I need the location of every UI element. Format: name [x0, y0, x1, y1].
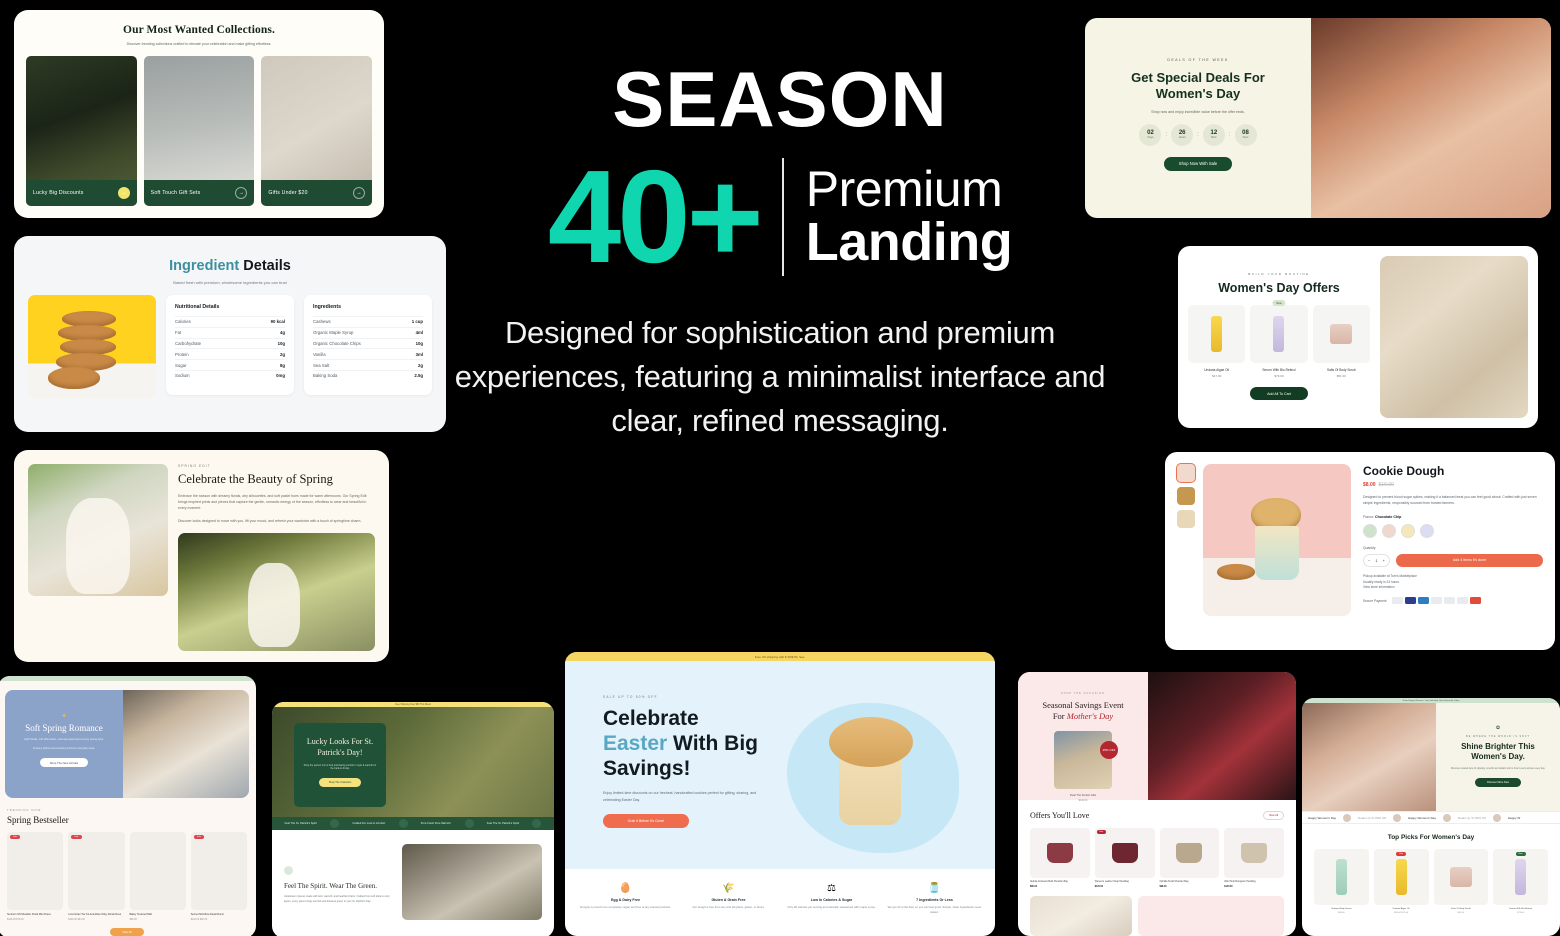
product-price: $79.00 [1493, 912, 1548, 914]
promo-banner: Free US shipping with $ 30/$ 50. See. [565, 652, 995, 661]
card-shine-brighter[interactable]: Shop Happy Women's Day Sale And Glow Nat… [1302, 698, 1560, 936]
feature-text: Only 90 calories per serving and natural… [783, 905, 880, 910]
countdown-label: Hours [1179, 136, 1186, 139]
mother-offers-section: Offers You'll Love View All Nebula Crois… [1018, 800, 1296, 888]
soft-hero-text-2: Dreamy fabrics and timeless prints for e… [15, 747, 113, 751]
countdown-label: Days [1148, 136, 1154, 139]
mother-title-emphasis: Mother's Day [1067, 711, 1113, 721]
row-value: 2g [280, 352, 285, 357]
shine-model-photo [1302, 703, 1436, 811]
shine-text-block: ✿ BE WHERE THE WORLD IS SOFT Shine Brigh… [1436, 703, 1560, 811]
flavor-value: Chocolate Chip [1375, 515, 1401, 519]
mother-eyebrow: SHOP THE OCCASION [1030, 692, 1136, 695]
product-image: Sale [1095, 828, 1155, 878]
mother-text-block: SHOP THE OCCASION Seasonal Savings Event… [1018, 672, 1148, 800]
offers-text-block: BUILD YOUR ROUTINE Women's Day Offers Un… [1188, 256, 1370, 418]
easter-text-block: SALE UP TO 50% OFF Celebrate Easter With… [603, 695, 773, 869]
product-item[interactable]: Web Pink Monogram Handbag $140.00 [1224, 828, 1284, 888]
decrement-button[interactable]: − [1368, 558, 1370, 563]
strip-item: Crafted For Luck & Comfort [352, 822, 385, 825]
ticker-item: Happy Women's Day [1408, 816, 1436, 820]
feature-title: 7 Ingredients Or Less [886, 898, 983, 902]
mother-title-line-2: For Mother's Day [1030, 711, 1136, 722]
offers-product-photo [1380, 256, 1528, 418]
discover-icon [1444, 597, 1455, 604]
collection-label: Soft Touch Gift Sets [151, 190, 201, 196]
feature-item: 🫙 7 Ingredients Or Less We got rid of th… [886, 883, 983, 915]
shine-paragraph: Discover curated care for glowing, smoot… [1448, 768, 1548, 772]
easter-features: 🥚 Egg & Dairy Free Doughy is proud to be… [565, 869, 995, 915]
countdown-unit: 12Mins [1203, 124, 1225, 146]
product-price: $120.00 [1095, 886, 1155, 888]
soft-product-grid: Sale Sunburn Off-Shoulder Floral Mini Dr… [7, 832, 247, 921]
table-row: Calories90 kcal [175, 316, 285, 327]
patrick-section-text: Celebrate in pieces made with luck, warm… [284, 895, 392, 904]
row-value: 8g [280, 363, 285, 368]
feature-item: 🥚 Egg & Dairy Free Doughy is proud to be… [577, 883, 674, 915]
row-value: 4g [280, 330, 285, 335]
price-original: $16.00 [1379, 482, 1394, 488]
offers-title: Women's Day Offers [1188, 281, 1370, 295]
product-name: Undaria Algae Oil [1374, 908, 1429, 910]
strip-item: Feel The St. Patrick's Spirit [285, 822, 317, 825]
deals-subtitle: Shop now and enjoy incredible value befo… [1101, 110, 1295, 114]
product-name: Ophidia Small Shoulder Bag [1160, 881, 1220, 884]
card-collections[interactable]: Our Most Wanted Collections. Discover tr… [14, 10, 384, 218]
payment-label: Secure Payment [1363, 599, 1387, 603]
quantity-label: Quantity [1363, 546, 1543, 550]
row-value: 0mg [276, 373, 285, 378]
increment-button[interactable]: + [1383, 558, 1385, 563]
product-image: Sale [7, 832, 63, 910]
table-row: Carbohydrate10g [175, 338, 285, 349]
ingredients-icon: 🫙 [886, 883, 983, 894]
product-name: Women's Leather Strap Handbag [1095, 881, 1155, 884]
countdown-separator: : [1165, 132, 1167, 138]
pickup-note: Pickup available at Tom's Marketplace Us… [1363, 574, 1543, 591]
mother-bottom-row [1018, 896, 1296, 936]
card-womens-day-offers[interactable]: BUILD YOUR ROUTINE Women's Day Offers Un… [1178, 246, 1538, 428]
countdown-label: Secs [1243, 136, 1249, 139]
product-price: $17.00 [1188, 374, 1245, 378]
swatch-yellow[interactable] [1401, 524, 1415, 538]
arrow-right-icon[interactable]: → [118, 187, 130, 199]
quantity-stepper[interactable]: − 1 + [1363, 554, 1390, 567]
hero-premium-label: Premium [806, 164, 1012, 215]
feature-item: ⚖ Low In Calories & Sugar Only 90 calori… [783, 883, 880, 915]
nutrition-panel: Nutritional Details Calories90 kcal Fat4… [166, 295, 294, 395]
visa-icon [1405, 597, 1416, 604]
mother-title-prefix: For [1053, 711, 1067, 721]
countdown-unit: 02Days [1139, 124, 1161, 146]
easter-title: Celebrate Easter With Big Savings! [603, 707, 773, 781]
soft-hero-photo [123, 690, 249, 798]
flavor-swatches [1363, 524, 1543, 538]
new-badge: New [1272, 300, 1285, 306]
card-cookie-dough-product[interactable]: Cookie Dough $8.00$16.00 Designed to pre… [1165, 452, 1555, 650]
product-price: $54.00 $17.00 [1374, 912, 1429, 914]
table-row: Sugar8g [175, 359, 285, 370]
product-image: Sale [1374, 849, 1429, 905]
product-name: Undaria Algae Oil [1188, 368, 1245, 372]
table-row: Fat4g [175, 327, 285, 338]
product-price: $51.00 [1313, 374, 1370, 378]
row-value: 10g [278, 341, 285, 346]
shop-now-button[interactable]: Shop Now With Sale [1164, 157, 1232, 171]
row-value: 1 cup [412, 319, 423, 324]
mother-product-grid: Nebula Croissant Multi Shoulder Bag $80.… [1030, 828, 1284, 888]
product-name: Sunburn Off-Shoulder Floral Mini Dress [7, 913, 63, 917]
table-row: Organic Maple Syrup4ml [313, 327, 423, 338]
shine-product-grid: Undaria Body Serum $48.00 Sale Undaria A… [1302, 849, 1560, 914]
patrick-hero-card: Lucky Looks For St. Patrick's Day! Shop … [294, 723, 386, 807]
collection-bar[interactable]: Gifts Under $20 → [261, 180, 372, 206]
easter-title-highlight: Easter [603, 732, 667, 755]
mother-section-title: Offers You'll Love [1030, 811, 1089, 820]
patrick-feature-strip: Feel The St. Patrick's Spirit Crafted Fo… [272, 817, 554, 830]
hero-count-plus: + [687, 156, 760, 277]
hero-season-title: SEASON [430, 60, 1130, 138]
discount-badge: 25% OFF [1100, 741, 1118, 759]
egg-free-icon: 🥚 [577, 883, 674, 894]
flower-icon: ✿ [1448, 725, 1548, 731]
spring-photo-right [178, 533, 375, 651]
collection-item[interactable]: Soft Touch Gift Sets → [144, 56, 255, 206]
soft-bestseller-section: TRENDING NOW Spring Bestseller Sale Sunb… [0, 798, 256, 936]
product-image [1313, 305, 1370, 363]
price-current: $8.00 [1363, 482, 1376, 488]
table-row: Organic Chocolate Chips10g [313, 338, 423, 349]
deals-model-photo [1311, 18, 1551, 218]
card-ingredient-details[interactable]: Ingredient Details Baked fresh with prem… [14, 236, 446, 432]
patrick-lower-section: Feel The Spirit. Wear The Green. Celebra… [272, 830, 554, 934]
countdown-separator: : [1229, 132, 1231, 138]
poster-canvas: SEASON 40+ Premium Landing Designed for … [0, 0, 1560, 936]
promo-banner-text: Free US shipping with $ 30/$ 50. See. [755, 655, 806, 659]
patrick-section-title: Feel The Spirit. Wear The Green. [284, 882, 392, 890]
spring-title: Celebrate the Beauty of Spring [178, 472, 375, 487]
row-label: Sugar [175, 363, 186, 368]
featured-product-card[interactable]: 25% OFF [1054, 731, 1112, 789]
row-value: 10g [416, 341, 423, 346]
deals-text-block: DEALS OF THE WEEK Get Special Deals For … [1085, 18, 1311, 218]
hero-count-row: 40+ Premium Landing [430, 156, 1130, 277]
card-soft-spring-romance[interactable]: ✦ Soft Spring Romance Light florals, sof… [0, 676, 256, 936]
product-item[interactable]: Salts Of Body Scrub $51.00 [1313, 305, 1370, 378]
product-name: Salts Of Body Scrub [1434, 908, 1489, 910]
product-name: Low Flutter Tier Fit-And-Flare Ditsy Flo… [68, 913, 124, 917]
row-label: Sodium [175, 373, 190, 378]
low-calorie-icon: ⚖ [783, 883, 880, 894]
countdown-label: Mins [1211, 136, 1216, 139]
spring-paragraph-1: Embrace the season with dreamy florals, … [178, 494, 375, 512]
deals-eyebrow: DEALS OF THE WEEK [1101, 58, 1295, 62]
row-label: Vanilla [313, 352, 326, 357]
product-item[interactable]: Sale Sunburn Off-Shoulder Floral Mini Dr… [7, 832, 63, 921]
product-name: Undaria Body Serum [1314, 908, 1369, 910]
sale-badge: Sale [1396, 852, 1406, 856]
shine-section-title: Top Picks For Women's Day [1302, 834, 1560, 841]
arrow-right-icon[interactable]: → [235, 187, 247, 199]
hero-description: Designed for sophistication and premium … [430, 311, 1130, 443]
clover-icon [465, 819, 474, 828]
ticker-item: Deals Up To 80% Off [1358, 816, 1386, 820]
easter-eyebrow: SALE UP TO 50% OFF [603, 695, 773, 699]
product-item[interactable]: Undaria Algae Oil $17.00 [1188, 305, 1245, 378]
collection-bar[interactable]: Lucky Big Discounts → [26, 180, 137, 206]
spring-paragraph-2: Discover looks designed to move with you… [178, 519, 375, 525]
swatch-mint[interactable] [1363, 524, 1377, 538]
product-price: $80.00 [1030, 886, 1090, 888]
soft-hero-title: Soft Spring Romance [15, 723, 113, 733]
card-easter-savings[interactable]: Free US shipping with $ 30/$ 50. See. SA… [565, 652, 995, 936]
product-price-row: $8.00$16.00 [1363, 482, 1543, 488]
table-row: Protein2g [175, 348, 285, 359]
table-row: Cashews1 cup [313, 316, 423, 327]
product-price: $128.00 $78.00 [7, 918, 63, 921]
row-label: Protein [175, 352, 189, 357]
row-value: 90 kcal [271, 319, 285, 324]
product-item[interactable]: New Serum With Bio-Retinol $79.00 [1250, 305, 1307, 378]
soft-hero: ✦ Soft Spring Romance Light florals, sof… [5, 690, 249, 798]
mother-title-line-1: Seasonal Savings Event [1030, 700, 1136, 711]
swatch-lavender[interactable] [1420, 524, 1434, 538]
store-info-link[interactable]: View store information [1363, 585, 1543, 591]
collections-subtitle: Discover trending collections crafted to… [14, 42, 384, 46]
mother-hero-photo [1148, 672, 1296, 800]
easter-cta-button[interactable]: Grab It Before It's Gone! [603, 814, 689, 828]
section-header-row: Offers You'll Love View All [1030, 811, 1284, 820]
product-item[interactable]: Sale Low Flutter Tier Fit-And-Flare Dits… [68, 832, 124, 921]
apple-pay-icon [1392, 597, 1403, 604]
featured-product-price: $410.00 [1030, 799, 1136, 802]
promo-banner-text: Free Shipping Over $50 This Week [395, 704, 431, 706]
product-price: $140.00 [1224, 886, 1284, 888]
avatar [1493, 814, 1501, 822]
collection-item[interactable]: Gifts Under $20 → [261, 56, 372, 206]
new-badge: New [1516, 852, 1526, 856]
ingredient-body: Nutritional Details Calories90 kcal Fat4… [14, 285, 446, 399]
card-spring-beauty[interactable]: SPRING EDIT Celebrate the Beauty of Spri… [14, 450, 389, 662]
shine-eyebrow: BE WHERE THE WORLD IS SOFT [1448, 735, 1548, 738]
thumbnail-list [1177, 464, 1195, 638]
thumbnail[interactable] [1177, 487, 1195, 505]
hero-subtitle-block: Premium Landing [806, 164, 1012, 270]
deals-title: Get Special Deals For Women's Day [1101, 70, 1295, 103]
row-value: 3ml [416, 352, 423, 357]
mastercard-icon [1470, 597, 1481, 604]
patrick-lower-photo [402, 844, 542, 920]
product-name: Sunset Mini Bow Detail Floral [191, 913, 247, 917]
sale-badge: Sale [71, 835, 81, 839]
easter-title-rest: With Big [667, 732, 758, 755]
collection-label: Gifts Under $20 [268, 190, 307, 196]
easter-title-line-3: Savings! [603, 757, 773, 782]
clover-icon [330, 819, 339, 828]
product-name: Nebula Croissant Multi Shoulder Bag [1030, 881, 1090, 884]
sale-badge: Sale [194, 835, 204, 839]
countdown-timer: 02Days : 26Hours : 12Mins : 08Secs [1101, 124, 1295, 146]
product-image [1030, 828, 1090, 878]
marquee-ticker: Happy Women's Day Deals Up To 80% Off Ha… [1302, 811, 1560, 824]
shine-hero: ✿ BE WHERE THE WORLD IS SOFT Shine Brigh… [1302, 703, 1560, 811]
feature-text: We got rid of the bad, so you can feel g… [886, 905, 983, 915]
product-image: Sale [191, 832, 247, 910]
hero-block: SEASON 40+ Premium Landing Designed for … [430, 60, 1130, 443]
ticker-item: Happy W [1508, 816, 1520, 820]
quantity-row: − 1 + Add 4 items it's done [1363, 554, 1543, 567]
product-item[interactable]: New Serum With Bio-Retinol $79.00 [1493, 849, 1548, 914]
easter-paragraph: Enjoy limited-time discounts on our fres… [603, 790, 773, 803]
collections-title: Our Most Wanted Collections. [14, 24, 384, 36]
product-name: Salts Of Body Scrub [1313, 368, 1370, 372]
easter-illustration [773, 695, 995, 869]
avatar [1343, 814, 1351, 822]
product-info: Cookie Dough $8.00$16.00 Designed to pre… [1359, 464, 1543, 638]
spring-wrap: SPRING EDIT Celebrate the Beauty of Spri… [14, 450, 389, 662]
row-value: 4ml [416, 330, 423, 335]
product-image [1224, 828, 1284, 878]
flavor-label: Flavor: [1363, 515, 1374, 519]
clover-badge-icon [284, 866, 293, 875]
collection-bar[interactable]: Soft Touch Gift Sets → [144, 180, 255, 206]
product-item[interactable]: Sale Sunset Mini Bow Detail Floral $118.… [191, 832, 247, 921]
sale-badge: Sale [1097, 830, 1106, 834]
ticker-item: Happy Women's Day [1308, 816, 1336, 820]
product-image [1250, 305, 1307, 363]
easter-hero: SALE UP TO 50% OFF Celebrate Easter With… [565, 661, 995, 869]
feature-title: Low In Calories & Sugar [783, 898, 880, 902]
add-all-to-cart-button[interactable]: Add All To Cart [1250, 387, 1308, 400]
easter-title-line-2: Easter With Big [603, 732, 773, 757]
table-row: Sodium0mg [175, 370, 285, 381]
product-item[interactable]: Salts Of Body Scrub $51.00 [1434, 849, 1489, 914]
soft-section-title: Spring Bestseller [7, 815, 247, 825]
star-icon: ✦ [15, 712, 113, 720]
offers-eyebrow: BUILD YOUR ROUTINE [1188, 272, 1370, 276]
row-label: Sea Salt [313, 363, 329, 368]
card-womens-day-deals[interactable]: DEALS OF THE WEEK Get Special Deals For … [1085, 18, 1551, 218]
product-item[interactable]: Bailey Textured Midi $98.00 [130, 832, 186, 921]
offers-product-grid: Undaria Algae Oil $17.00 New Serum With … [1188, 305, 1370, 378]
swatch-pink[interactable] [1382, 524, 1396, 538]
countdown-unit: 26Hours [1171, 124, 1193, 146]
hero-landing-label: Landing [806, 215, 1012, 270]
mother-bottom-photo [1030, 896, 1132, 936]
hero-count-number: 40 [548, 156, 687, 277]
view-all-button[interactable]: View All [1263, 811, 1284, 820]
add-to-cart-button[interactable]: Add 4 items it's done [1396, 554, 1543, 567]
row-label: Carbohydrate [175, 341, 201, 346]
product-price: $51.00 [1434, 912, 1489, 914]
product-item[interactable]: Sale Women's Leather Strap Handbag $120.… [1095, 828, 1155, 888]
view-all-button[interactable]: View All [110, 928, 144, 936]
ticker-item: Deals Up To 80% Off [1458, 816, 1486, 820]
collection-item[interactable]: Lucky Big Discounts → [26, 56, 137, 206]
product-price: $148.00 $94.00 [68, 918, 124, 921]
cookie-photo [28, 295, 156, 399]
collections-grid: Lucky Big Discounts → Soft Touch Gift Se… [14, 56, 384, 206]
shop-collection-button[interactable]: Shop The Collection [319, 778, 361, 787]
feature-item: 🌾 Gluten & Grain Free Our dough is free … [680, 883, 777, 915]
product-price: $79.00 [1250, 374, 1307, 378]
product-item[interactable]: Undaria Body Serum $48.00 [1314, 849, 1369, 914]
row-label: Calories [175, 319, 191, 324]
product-image [1434, 849, 1489, 905]
thumbnail[interactable] [1177, 464, 1195, 482]
spring-text-block: SPRING EDIT Celebrate the Beauty of Spri… [178, 464, 375, 651]
product-title: Cookie Dough [1363, 464, 1543, 478]
payment-row: Secure Payment [1363, 597, 1543, 604]
arrow-right-icon[interactable]: → [353, 187, 365, 199]
patrick-title: Lucky Looks For St. Patrick's Day! [303, 737, 377, 759]
shop-new-arrivals-button[interactable]: Shop The New Arrivals [40, 758, 88, 767]
countdown-unit: 08Secs [1235, 124, 1257, 146]
row-label: Cashews [313, 319, 331, 324]
row-label: Organic Chocolate Chips [313, 341, 361, 346]
soft-hero-text-1: Light florals, soft silhouettes, and eas… [15, 738, 113, 742]
strip-item: Feel The St. Patrick's Spirit [487, 822, 519, 825]
row-label: Baking Soda [313, 373, 337, 378]
promo-banner-text: Shop Happy Women's Day Sale And Glow Nat… [1403, 700, 1460, 702]
feature-title: Gluten & Grain Free [680, 898, 777, 902]
row-value: 2.5g [414, 373, 423, 378]
spring-eyebrow: SPRING EDIT [178, 464, 375, 468]
feature-text: Our dough is free from any and all grain… [680, 905, 777, 910]
product-price: $118.00 $82.00 [191, 918, 247, 921]
discover-more-button[interactable]: Discover More Now [1475, 778, 1521, 787]
spring-photo-left [28, 464, 168, 596]
gluten-free-icon: 🌾 [680, 883, 777, 894]
product-description: Designed to prevent blood sugar spikes, … [1363, 495, 1543, 507]
table-row: Sea Salt2g [313, 359, 423, 370]
quantity-value: 1 [1375, 558, 1377, 563]
nutrition-heading: Nutritional Details [175, 304, 285, 310]
soft-eyebrow: TRENDING NOW [7, 808, 247, 812]
product-price: $98.00 [130, 918, 186, 921]
product-name: Serum With Bio-Retinol [1250, 368, 1307, 372]
product-image [130, 832, 186, 910]
avatar [1393, 814, 1401, 822]
soft-hero-text: ✦ Soft Spring Romance Light florals, sof… [5, 690, 123, 798]
product-item[interactable]: Ophidia Small Shoulder Bag $98.00 [1160, 828, 1220, 888]
ingredients-heading: Ingredients [313, 304, 423, 310]
clover-icon [532, 819, 541, 828]
product-main-image [1203, 464, 1351, 616]
link-icon [1457, 597, 1468, 604]
patrick-lower-text: Feel The Spirit. Wear The Green. Celebra… [284, 844, 392, 920]
product-item[interactable]: Nebula Croissant Multi Shoulder Bag $80.… [1030, 828, 1090, 888]
row-label: Fat [175, 330, 181, 335]
hero-divider [782, 158, 784, 276]
thumbnail[interactable] [1177, 510, 1195, 528]
ingredients-panel: Ingredients Cashews1 cup Organic Maple S… [304, 295, 432, 395]
ingredient-header: Ingredient Details Baked fresh with prem… [14, 236, 446, 285]
product-name: Serum With Bio-Retinol [1493, 908, 1548, 910]
strip-item: Pure Fresh Pure Warmth. [421, 822, 452, 825]
row-value: 2g [418, 363, 423, 368]
product-item[interactable]: Sale Undaria Algae Oil $54.00 $17.00 [1374, 849, 1429, 914]
easter-title-line-1: Celebrate [603, 707, 773, 732]
card-st-patricks-day[interactable]: Free Shipping Over $50 This Week Lucky L… [272, 702, 554, 936]
product-image: New [1493, 849, 1548, 905]
product-name: Bailey Textured Midi [130, 913, 186, 917]
product-image [1160, 828, 1220, 878]
product-name: Web Pink Monogram Handbag [1224, 881, 1284, 884]
top-strip [0, 676, 256, 681]
card-mothers-day[interactable]: SHOP THE OCCASION Seasonal Savings Event… [1018, 672, 1296, 936]
feature-title: Egg & Dairy Free [577, 898, 674, 902]
